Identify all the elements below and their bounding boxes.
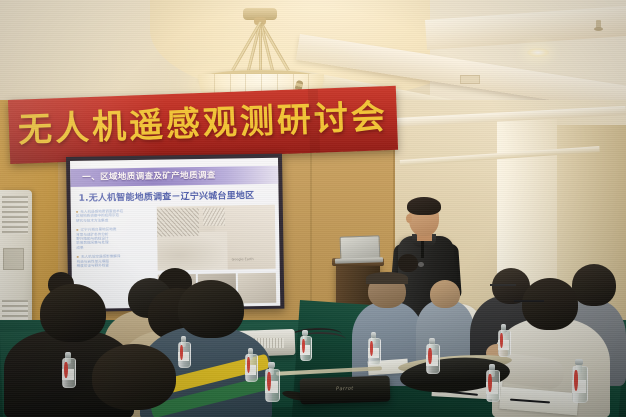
attendee-hair [366, 272, 408, 284]
attendee-head [178, 280, 244, 338]
slide-bullet-line: 研究与技术方法集成 [76, 218, 154, 224]
attendee-head [92, 344, 176, 410]
downlight-icon [527, 48, 549, 57]
attendee-head [572, 264, 616, 306]
water-bottle [178, 340, 189, 368]
air-conditioner-panel [3, 248, 24, 270]
ceiling-vent [460, 75, 480, 84]
water-bottle [300, 334, 310, 361]
water-bottle [498, 328, 509, 357]
map-urban-area [157, 208, 199, 237]
drone-label: Parrot [336, 386, 354, 393]
presenter-hair [407, 197, 441, 215]
water-bottle [62, 356, 74, 388]
slide-thumbnail [238, 273, 276, 304]
water-bottle [265, 366, 278, 402]
slide-bullet-list: 无人机遥感地质调查技术在区域地质调查中的应用示范研究与技术方法集成辽宁兴城台里地… [76, 209, 155, 274]
slide-bullet-group: 辽宁兴城台里地区地质背景与成矿条件分析野外踏勘与航线设计影像数据采集与处理成果 [76, 227, 154, 250]
attendee-head [40, 284, 106, 342]
conference-room-photo: 无人机遥感观测研讨会 一、区域地质调查及矿产地质调查 1.无人机智能地质调查－辽… [0, 0, 626, 417]
glasses-icon [490, 284, 516, 286]
glasses-icon [514, 300, 544, 302]
slide-bullet-group: 无人机遥感地质调查技术在区域地质调查中的应用示范研究与技术方法集成 [76, 209, 154, 223]
water-bottle [368, 336, 379, 365]
slide-bullet-line: 成果 [76, 245, 154, 251]
slide-title: 一、区域地质调查及矿产地质调查 [82, 167, 268, 186]
presenter-placket [421, 240, 424, 258]
attendee-head [398, 254, 418, 272]
sprinkler-head-icon [594, 27, 603, 31]
water-bottle [486, 368, 498, 402]
attendee-head [430, 280, 460, 308]
slide-bullet-line: 精度验证与野外检查 [77, 263, 155, 269]
map-urban-area-secondary [203, 208, 225, 226]
slide-bullet-group: 无人机低空遥感影像解译构造与岩性单元填图精度验证与野外检查 [76, 254, 154, 268]
presenter-shirt-logo [418, 262, 424, 267]
water-bottle [426, 342, 438, 374]
slide-satellite-map: Google Earth [157, 205, 276, 271]
water-bottle [572, 363, 586, 403]
slide-subtitle: 1.无人机智能地质调查－辽宁兴城台里地区 [78, 189, 274, 206]
map-credit-text: Google Earth [232, 257, 254, 261]
water-bottle [245, 352, 256, 382]
attendee-head [522, 278, 578, 330]
map-terrain-area [157, 232, 228, 271]
air-conditioner-vent-top [2, 196, 28, 234]
wall-seam [310, 150, 312, 320]
presenter-ear [406, 214, 412, 223]
